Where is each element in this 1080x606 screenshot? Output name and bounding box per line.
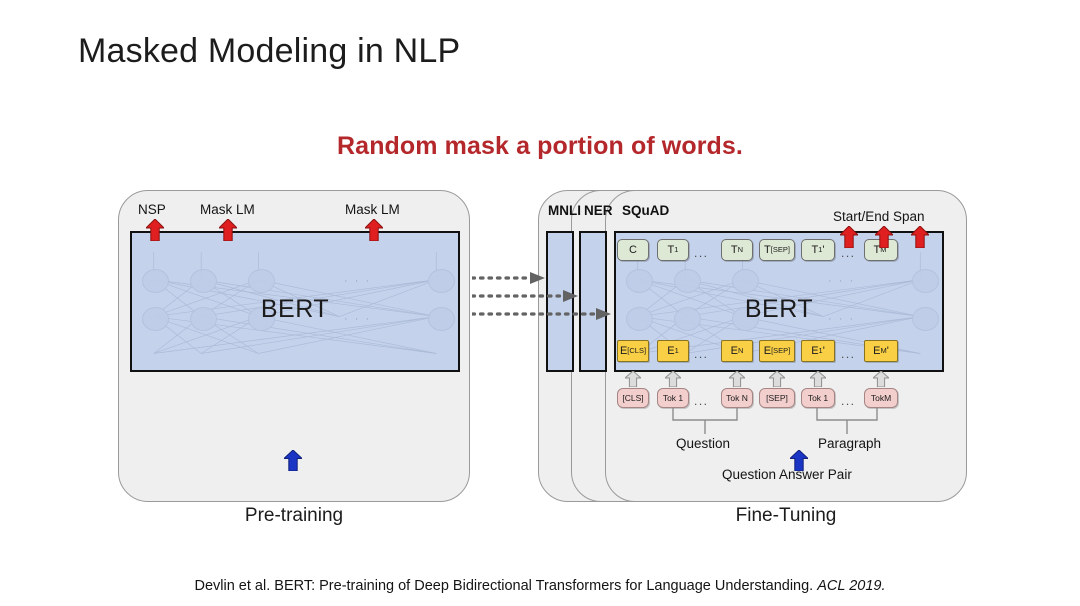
model-name-right: BERT <box>616 295 942 324</box>
token-chip-tokm: TokM <box>864 388 898 408</box>
stage-label-pre-training: Pre-training <box>118 505 470 527</box>
output-ellipsis-1: ... <box>694 246 709 260</box>
output-chip-t1: T1 <box>657 239 689 261</box>
segment-bracket-paragraph <box>812 408 882 439</box>
embedding-chip-em-prime: EM' <box>864 340 898 362</box>
subtitle-text: Random mask a portion of words. <box>0 132 1080 161</box>
red-up-arrow-middle <box>875 226 893 253</box>
stage-label-fine-tuning: Fine-Tuning <box>605 505 967 527</box>
neuron <box>674 269 701 293</box>
token-chip-tok1-a: Tok 1 <box>657 388 689 408</box>
embedding-chip-e1-prime: E1' <box>801 340 835 362</box>
transfer-arrow-1 <box>472 271 546 289</box>
bert-architecture-figure: MNLI NER SQuAD NSP Mask LM Mask LM <box>118 185 986 530</box>
neuron <box>912 269 939 293</box>
red-up-arrow-nsp <box>146 219 164 246</box>
neuron <box>142 269 169 293</box>
token-chip-cls: [CLS] <box>617 388 649 408</box>
tab-label-squad[interactable]: SQuAD <box>622 203 669 218</box>
neuron <box>428 269 455 293</box>
page-title: Masked Modeling in NLP <box>78 32 460 71</box>
token-chip-tok1-b: Tok 1 <box>801 388 835 408</box>
red-up-arrow-masklm-2 <box>365 219 383 246</box>
model-name-left: BERT <box>132 295 458 324</box>
red-up-arrow-end <box>911 226 929 253</box>
neuron <box>626 269 653 293</box>
embedding-chip-en: EN <box>721 340 753 362</box>
blue-up-arrow-finetuning <box>790 450 808 476</box>
head-label-start-end-span: Start/End Span <box>833 209 925 224</box>
neuron <box>248 269 275 293</box>
head-label-mask-lm-2: Mask LM <box>345 202 400 217</box>
segment-label-question: Question <box>676 436 730 451</box>
token-chip-tokn: Tok N <box>721 388 753 408</box>
embedding-chip-e1: E1 <box>657 340 689 362</box>
head-label-nsp: NSP <box>138 202 166 217</box>
output-chip-tn: TN <box>721 239 753 261</box>
tab-label-ner[interactable]: NER <box>584 203 613 218</box>
input-label-finetuning: Question Answer Pair <box>722 467 852 482</box>
embedding-ellipsis-2: ... <box>841 347 856 361</box>
embedding-ellipsis-1: ... <box>694 347 709 361</box>
head-label-mask-lm-1: Mask LM <box>200 202 255 217</box>
transfer-arrow-2 <box>472 289 579 307</box>
output-chip-c: C <box>617 239 649 261</box>
bert-block-ner-sliver <box>579 231 607 372</box>
citation-main: Devlin et al. BERT: Pre-training of Deep… <box>194 578 813 594</box>
output-chip-t1-prime: T1' <box>801 239 835 261</box>
token-chip-sep: [SEP] <box>759 388 795 408</box>
segment-label-paragraph: Paragraph <box>818 436 881 451</box>
token-ellipsis-2: ... <box>841 394 856 408</box>
bert-block-pretraining: · · · · · · BERT <box>130 231 460 372</box>
mesh-ellipsis: · · · <box>344 275 371 287</box>
embedding-chip-esep: E[SEP] <box>759 340 795 362</box>
embedding-chip-ecls: E[CLS] <box>617 340 649 362</box>
output-chip-tsep: T[SEP] <box>759 239 795 261</box>
mesh-ellipsis: · · · <box>828 275 855 287</box>
blue-up-arrow-pretraining <box>284 450 302 476</box>
token-ellipsis-1: ... <box>694 394 709 408</box>
segment-bracket-question <box>668 408 742 439</box>
red-up-arrow-masklm-1 <box>219 219 237 246</box>
tab-label-mnli[interactable]: MNLI <box>548 203 581 218</box>
neuron <box>190 269 217 293</box>
citation-venue: ACL 2019. <box>817 578 885 594</box>
red-up-arrow-start <box>840 226 858 253</box>
transfer-arrow-3 <box>472 307 612 325</box>
citation-caption: Devlin et al. BERT: Pre-training of Deep… <box>0 578 1080 594</box>
neuron <box>732 269 759 293</box>
